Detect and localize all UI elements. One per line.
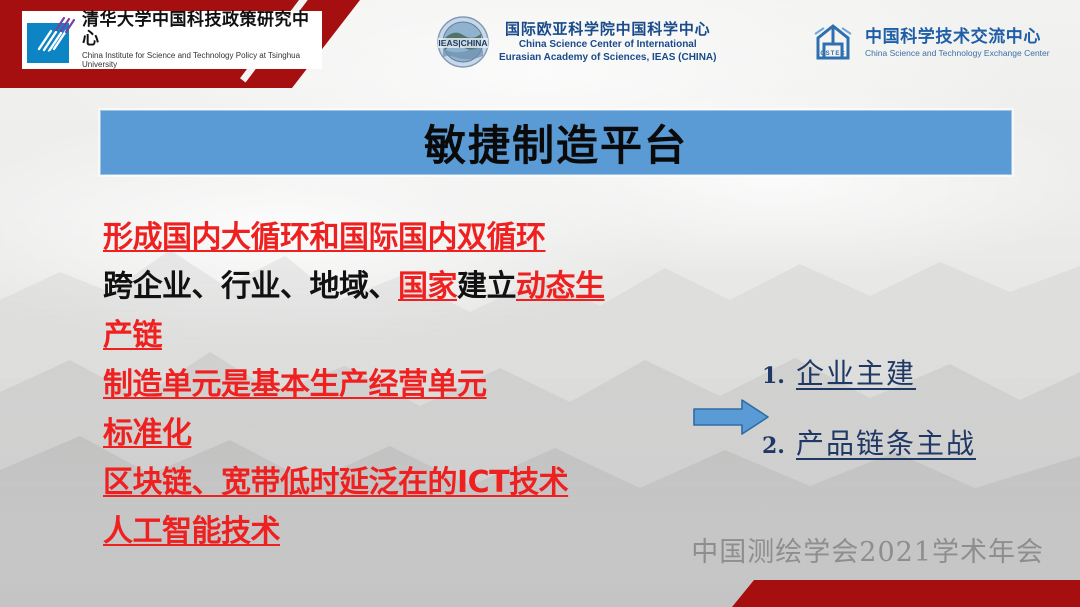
body-text-segment: 区块链、宽带低时延泛在的ICT技术: [103, 465, 568, 500]
ieas-globe-icon: IEAS|CHINA: [437, 16, 489, 68]
cstec-name-cn: 中国科学技术交流中心: [865, 28, 1050, 48]
body-text-segment: 国家: [398, 269, 457, 304]
cistp-acronym: C I S T P: [28, 51, 75, 65]
cistp-name-en: China Institute for Science and Technolo…: [82, 52, 322, 70]
body-text-segment: 人工智能技术: [103, 514, 280, 549]
cistp-name-cn: 清华大学中国科技政策研究中心: [82, 11, 322, 50]
body-line: 人工智能技术: [103, 507, 683, 556]
body-text-segment: 建立: [457, 269, 516, 304]
page-title: 敏捷制造平台: [424, 112, 688, 173]
ieas-name-en-line1: China Science Center of International: [499, 39, 716, 52]
body-text-segment: 动态生: [516, 269, 605, 304]
callout-numbered-list: 1.企业主建2.产品链条主战: [762, 352, 1062, 492]
svg-text:CSTEC: CSTEC: [820, 51, 845, 57]
body-text-segment: 跨企业、行业、地域、: [103, 269, 398, 304]
ieas-name-en-line2: Eurasian Academy of Sciences, IEAS (CHIN…: [499, 52, 716, 65]
callout-item-number: 2.: [762, 433, 796, 459]
cstec-emblem-icon: CSTEC: [810, 22, 856, 64]
body-text-segment: 标准化: [103, 416, 192, 451]
ieas-name-cn: 国际欧亚科学院中国科学中心: [499, 20, 716, 38]
cstec-name-en: China Science and Technology Exchange Ce…: [865, 49, 1050, 58]
body-line: 形成国内大循环和国际国内双循环: [103, 213, 683, 262]
footer-red-band: [732, 580, 1080, 607]
body-text-segment: 制造单元是基本生产经营单元: [103, 367, 487, 402]
slide-title-banner: 敏捷制造平台: [100, 110, 1012, 175]
body-line: 标准化: [103, 409, 683, 458]
footer-watermark: 中国测绘学会2021学术年会: [691, 530, 1044, 569]
logo-cistp: C I S T P 清华大学中国科技政策研究中心 China Institute…: [22, 11, 322, 69]
body-line: 跨企业、行业、地域、国家建立动态生: [103, 262, 683, 311]
callout-item-number: 1.: [762, 363, 796, 389]
body-line: 产链: [103, 311, 683, 360]
body-text-segment: 形成国内大循环和国际国内双循环: [103, 220, 546, 255]
callout-item-label: 产品链条主战: [796, 422, 976, 462]
logo-cstec: CSTEC 中国科学技术交流中心 China Science and Techn…: [810, 22, 1050, 64]
presentation-slide: C I S T P 清华大学中国科技政策研究中心 China Institute…: [0, 0, 1080, 607]
body-text-block: 形成国内大循环和国际国内双循环跨企业、行业、地域、国家建立动态生产链制造单元是基…: [103, 213, 683, 556]
logo-ieas-china: IEAS|CHINA 国际欧亚科学院中国科学中心 China Science C…: [437, 16, 716, 68]
callout-item-label: 企业主建: [796, 352, 916, 392]
callout-list-item: 2.产品链条主战: [762, 422, 1062, 462]
cistp-emblem-icon: C I S T P: [25, 15, 75, 65]
body-text-segment: 产链: [103, 318, 162, 353]
callout-list-item: 1.企业主建: [762, 352, 1062, 392]
arrow-right-icon: [692, 398, 770, 436]
body-line: 制造单元是基本生产经营单元: [103, 360, 683, 409]
body-line: 区块链、宽带低时延泛在的ICT技术: [103, 458, 683, 507]
svg-text:IEAS|CHINA: IEAS|CHINA: [438, 38, 487, 48]
